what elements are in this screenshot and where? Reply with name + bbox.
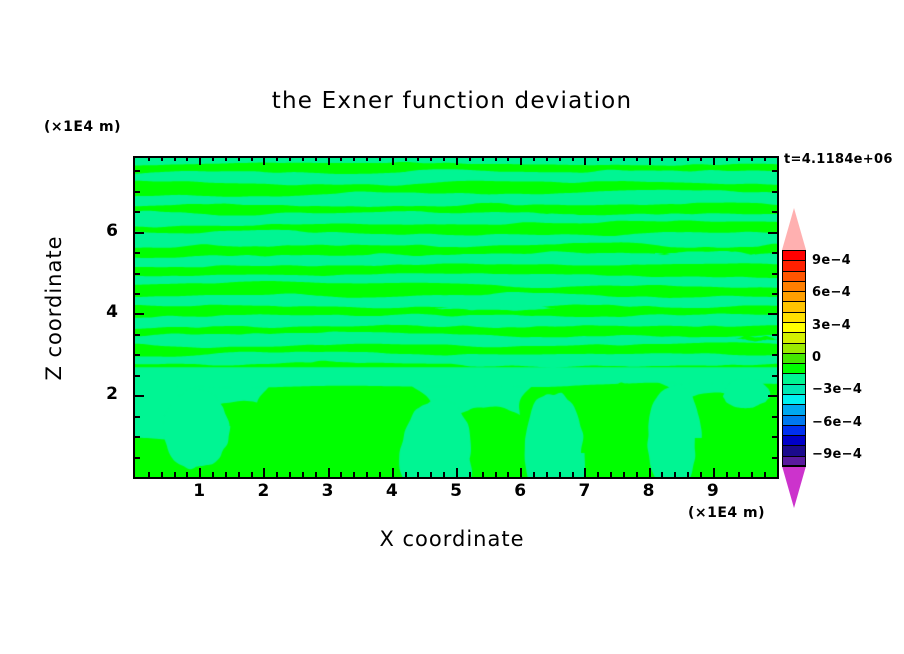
x-tick-minor bbox=[430, 472, 432, 477]
x-tick-minor bbox=[700, 156, 702, 161]
contour-plot-area bbox=[133, 156, 779, 479]
x-tick-label: 5 bbox=[436, 481, 476, 501]
x-tick-major bbox=[199, 156, 201, 165]
y-tick-minor bbox=[135, 273, 140, 275]
colorbar-extend-min-icon bbox=[782, 466, 806, 508]
y-tick-major bbox=[768, 313, 777, 315]
colorbar-tick-label: −3e−4 bbox=[812, 382, 862, 397]
x-tick-label: 7 bbox=[564, 481, 604, 501]
x-tick-minor bbox=[225, 472, 227, 477]
y-tick-major bbox=[768, 395, 777, 397]
x-tick-minor bbox=[572, 472, 574, 477]
y-tick-minor bbox=[135, 457, 140, 459]
y-tick-major bbox=[135, 313, 144, 315]
x-tick-minor bbox=[417, 472, 419, 477]
x-tick-major bbox=[263, 468, 265, 477]
x-tick-minor bbox=[610, 472, 612, 477]
x-tick-minor bbox=[340, 472, 342, 477]
x-tick-minor bbox=[302, 472, 304, 477]
x-tick-minor bbox=[405, 472, 407, 477]
x-tick-minor bbox=[276, 156, 278, 161]
colorbar-tick-label: 9e−4 bbox=[812, 253, 851, 268]
x-tick-minor bbox=[225, 156, 227, 161]
x-tick-label: 8 bbox=[629, 481, 669, 501]
y-tick-minor bbox=[772, 334, 777, 336]
x-tick-minor bbox=[161, 156, 163, 161]
x-tick-label: 4 bbox=[372, 481, 412, 501]
time-annotation: t=4.1184e+06 bbox=[784, 152, 893, 167]
x-tick-minor bbox=[738, 156, 740, 161]
x-tick-major bbox=[392, 468, 394, 477]
x-tick-minor bbox=[597, 156, 599, 161]
y-tick-major bbox=[135, 395, 144, 397]
x-tick-major bbox=[199, 468, 201, 477]
y-tick-minor bbox=[135, 436, 140, 438]
x-tick-minor bbox=[238, 156, 240, 161]
y-tick-minor bbox=[772, 170, 777, 172]
y-tick-minor bbox=[135, 191, 140, 193]
x-tick-minor bbox=[623, 472, 625, 477]
x-tick-minor bbox=[482, 472, 484, 477]
y-tick-label: 2 bbox=[90, 384, 118, 404]
x-tick-minor bbox=[148, 156, 150, 161]
y-tick-major bbox=[768, 232, 777, 234]
colorbar-tick-label: 6e−4 bbox=[812, 285, 851, 300]
x-tick-minor bbox=[315, 472, 317, 477]
x-axis-title: X coordinate bbox=[0, 527, 904, 551]
x-tick-minor bbox=[751, 156, 753, 161]
x-tick-minor bbox=[674, 156, 676, 161]
colorbar-outline bbox=[782, 250, 806, 466]
y-tick-major bbox=[135, 232, 144, 234]
x-tick-minor bbox=[186, 156, 188, 161]
y-tick-minor bbox=[772, 354, 777, 356]
x-tick-minor bbox=[405, 156, 407, 161]
y-axis-title: Z coordinate bbox=[42, 218, 66, 398]
x-tick-major bbox=[456, 156, 458, 165]
x-tick-major bbox=[713, 156, 715, 165]
x-tick-major bbox=[584, 468, 586, 477]
x-tick-minor bbox=[443, 472, 445, 477]
x-tick-minor bbox=[366, 472, 368, 477]
x-tick-minor bbox=[533, 472, 535, 477]
x-tick-major bbox=[263, 156, 265, 165]
y-axis-unit-label: (×1E4 m) bbox=[44, 119, 121, 135]
x-tick-minor bbox=[482, 156, 484, 161]
contour-field bbox=[135, 158, 777, 477]
x-tick-major bbox=[328, 156, 330, 165]
x-tick-minor bbox=[186, 472, 188, 477]
x-tick-minor bbox=[687, 472, 689, 477]
x-tick-minor bbox=[636, 156, 638, 161]
x-tick-minor bbox=[661, 156, 663, 161]
x-tick-minor bbox=[251, 472, 253, 477]
x-tick-minor bbox=[495, 472, 497, 477]
x-tick-minor bbox=[764, 156, 766, 161]
x-tick-minor bbox=[700, 472, 702, 477]
y-tick-minor bbox=[135, 170, 140, 172]
y-tick-minor bbox=[135, 211, 140, 213]
x-tick-minor bbox=[546, 156, 548, 161]
x-tick-minor bbox=[379, 156, 381, 161]
y-tick-minor bbox=[772, 457, 777, 459]
x-tick-minor bbox=[340, 156, 342, 161]
x-tick-minor bbox=[572, 156, 574, 161]
x-tick-major bbox=[328, 468, 330, 477]
y-tick-minor bbox=[135, 354, 140, 356]
x-tick-minor bbox=[495, 156, 497, 161]
y-tick-minor bbox=[135, 293, 140, 295]
x-tick-minor bbox=[636, 472, 638, 477]
x-tick-minor bbox=[687, 156, 689, 161]
colorbar-tick-label: −6e−4 bbox=[812, 415, 862, 430]
x-tick-minor bbox=[174, 156, 176, 161]
x-tick-minor bbox=[610, 156, 612, 161]
x-tick-minor bbox=[379, 472, 381, 477]
y-tick-minor bbox=[135, 416, 140, 418]
x-tick-minor bbox=[533, 156, 535, 161]
y-tick-minor bbox=[135, 334, 140, 336]
x-tick-minor bbox=[417, 156, 419, 161]
x-tick-minor bbox=[353, 156, 355, 161]
x-tick-minor bbox=[174, 472, 176, 477]
x-tick-minor bbox=[430, 156, 432, 161]
x-tick-minor bbox=[161, 472, 163, 477]
x-tick-minor bbox=[661, 472, 663, 477]
x-tick-minor bbox=[507, 156, 509, 161]
x-tick-minor bbox=[469, 156, 471, 161]
x-tick-minor bbox=[559, 472, 561, 477]
y-tick-label: 4 bbox=[90, 302, 118, 322]
x-tick-label: 2 bbox=[243, 481, 283, 501]
x-tick-minor bbox=[546, 472, 548, 477]
x-tick-minor bbox=[507, 472, 509, 477]
y-tick-minor bbox=[772, 191, 777, 193]
x-tick-label: 1 bbox=[179, 481, 219, 501]
y-tick-minor bbox=[772, 252, 777, 254]
x-tick-minor bbox=[726, 156, 728, 161]
x-tick-major bbox=[392, 156, 394, 165]
x-tick-minor bbox=[751, 472, 753, 477]
x-tick-minor bbox=[289, 472, 291, 477]
x-tick-minor bbox=[148, 472, 150, 477]
x-tick-minor bbox=[366, 156, 368, 161]
x-tick-major bbox=[649, 468, 651, 477]
colorbar-tick-label: 3e−4 bbox=[812, 318, 851, 333]
x-tick-minor bbox=[315, 156, 317, 161]
page-title: the Exner function deviation bbox=[0, 88, 904, 114]
x-tick-major bbox=[584, 156, 586, 165]
x-tick-minor bbox=[443, 156, 445, 161]
x-tick-minor bbox=[559, 156, 561, 161]
y-tick-minor bbox=[772, 436, 777, 438]
y-tick-minor bbox=[135, 375, 140, 377]
x-tick-major bbox=[456, 468, 458, 477]
y-tick-minor bbox=[772, 293, 777, 295]
y-tick-minor bbox=[135, 252, 140, 254]
colorbar-tick-label: 0 bbox=[812, 350, 821, 365]
x-tick-minor bbox=[212, 156, 214, 161]
y-tick-minor bbox=[772, 416, 777, 418]
y-tick-minor bbox=[772, 273, 777, 275]
x-tick-minor bbox=[726, 472, 728, 477]
x-tick-minor bbox=[238, 472, 240, 477]
x-tick-minor bbox=[674, 472, 676, 477]
x-tick-major bbox=[520, 468, 522, 477]
x-tick-label: 3 bbox=[308, 481, 348, 501]
x-tick-minor bbox=[597, 472, 599, 477]
x-tick-minor bbox=[353, 472, 355, 477]
x-tick-minor bbox=[302, 156, 304, 161]
x-tick-minor bbox=[469, 472, 471, 477]
x-tick-major bbox=[649, 156, 651, 165]
x-tick-label: 9 bbox=[693, 481, 733, 501]
x-tick-minor bbox=[764, 472, 766, 477]
x-tick-minor bbox=[289, 156, 291, 161]
y-tick-minor bbox=[772, 375, 777, 377]
x-axis-unit-label: (×1E4 m) bbox=[688, 505, 765, 521]
x-tick-minor bbox=[738, 472, 740, 477]
x-tick-minor bbox=[212, 472, 214, 477]
colorbar bbox=[782, 208, 806, 508]
x-tick-major bbox=[520, 156, 522, 165]
x-tick-minor bbox=[276, 472, 278, 477]
x-tick-major bbox=[713, 468, 715, 477]
x-tick-minor bbox=[251, 156, 253, 161]
y-tick-label: 6 bbox=[90, 221, 118, 241]
x-tick-minor bbox=[623, 156, 625, 161]
x-tick-label: 6 bbox=[500, 481, 540, 501]
colorbar-tick-label: −9e−4 bbox=[812, 447, 862, 462]
colorbar-extend-max-icon bbox=[782, 208, 806, 250]
y-tick-minor bbox=[772, 211, 777, 213]
